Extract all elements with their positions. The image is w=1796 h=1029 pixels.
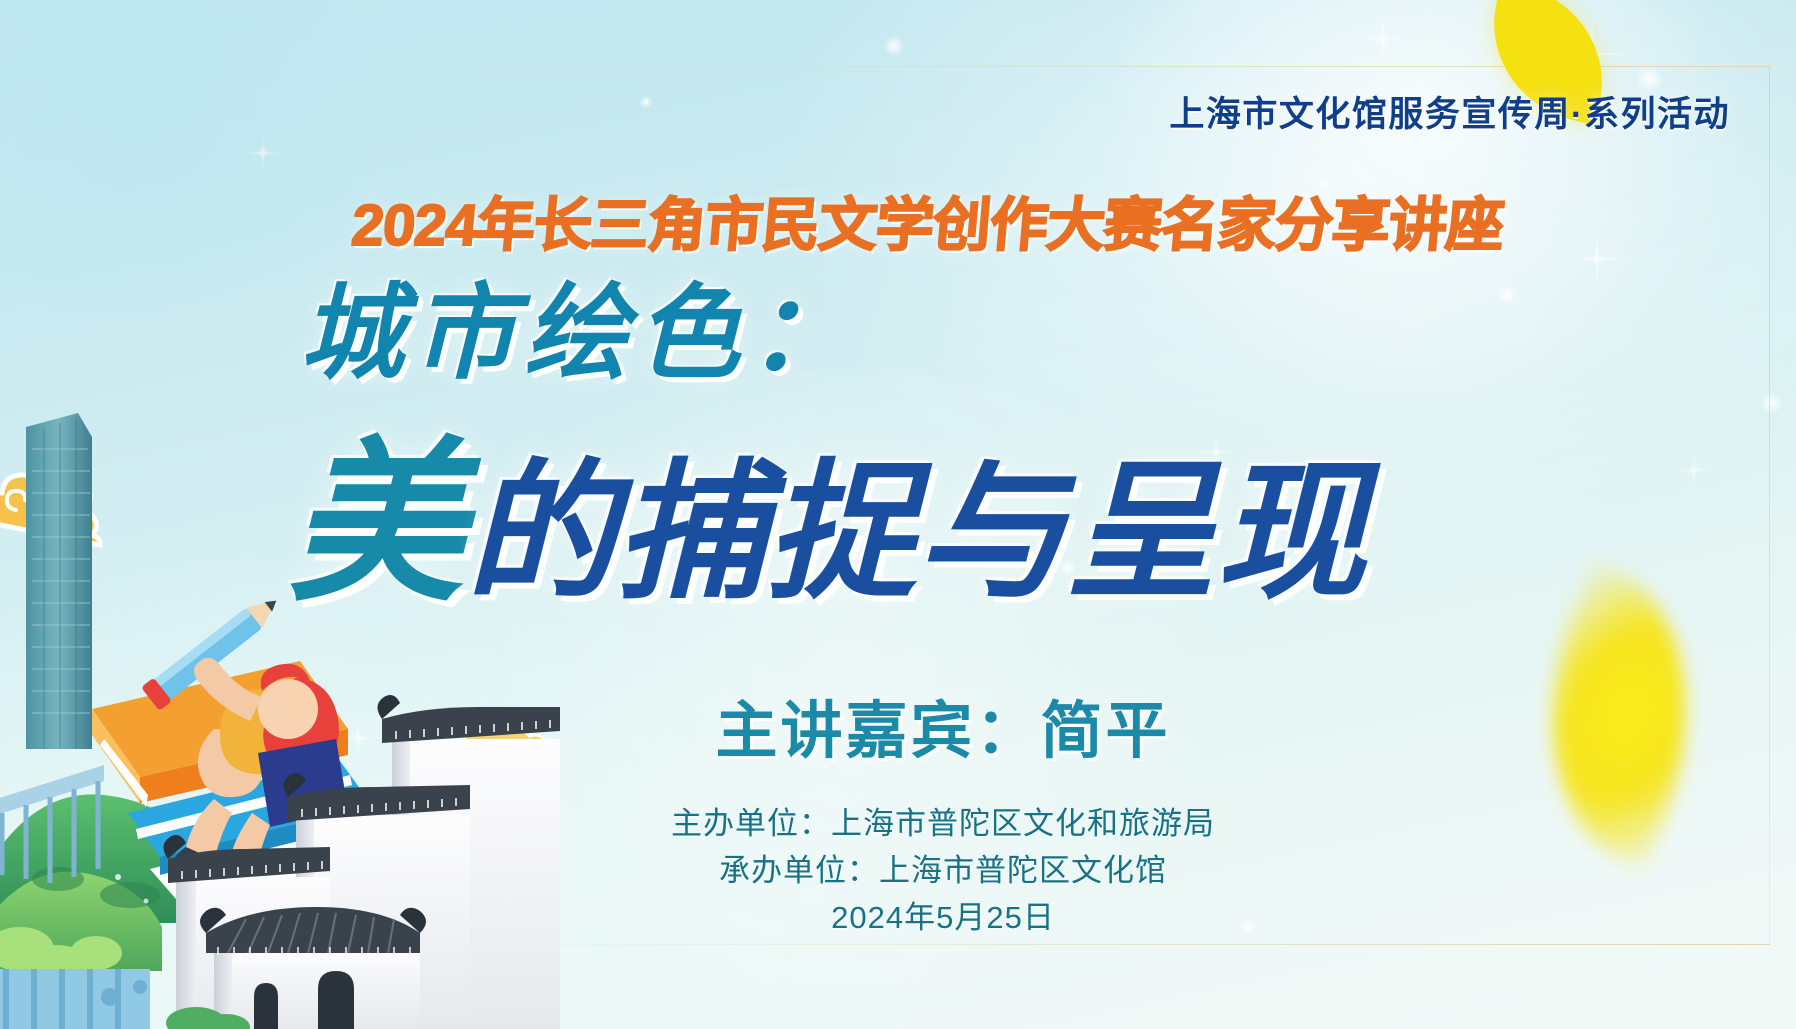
eyebrow-text: 上海市文化馆服务宣传周·系列活动	[1169, 86, 1730, 137]
footer-organizer: 主办单位：上海市普陀区文化和旅游局	[671, 800, 1215, 847]
speaker-line: 主讲嘉宾：简平	[715, 680, 1170, 770]
footer-block: 主办单位：上海市普陀区文化和旅游局 承办单位：上海市普陀区文化馆 2024年5月…	[671, 800, 1215, 941]
poster-text-content: 上海市文化馆服务宣传周·系列活动 2024年长三角市民文学创作大赛名家分享讲座 …	[0, 0, 1796, 1029]
page-title-accent-char: 美	[288, 426, 466, 622]
footer-host: 承办单位：上海市普陀区文化馆	[671, 847, 1215, 894]
page-title-remainder: 的捕捉与呈现	[466, 448, 1366, 616]
page-title-line-2: 美的捕捉与呈现	[288, 380, 1366, 635]
footer-date: 2024年5月25日	[671, 894, 1215, 941]
poster-canvas: 上海市文化馆服务宣传周·系列活动 2024年长三角市民文学创作大赛名家分享讲座 …	[0, 0, 1796, 1029]
page-title-line-1: 城市绘色：	[300, 248, 860, 399]
